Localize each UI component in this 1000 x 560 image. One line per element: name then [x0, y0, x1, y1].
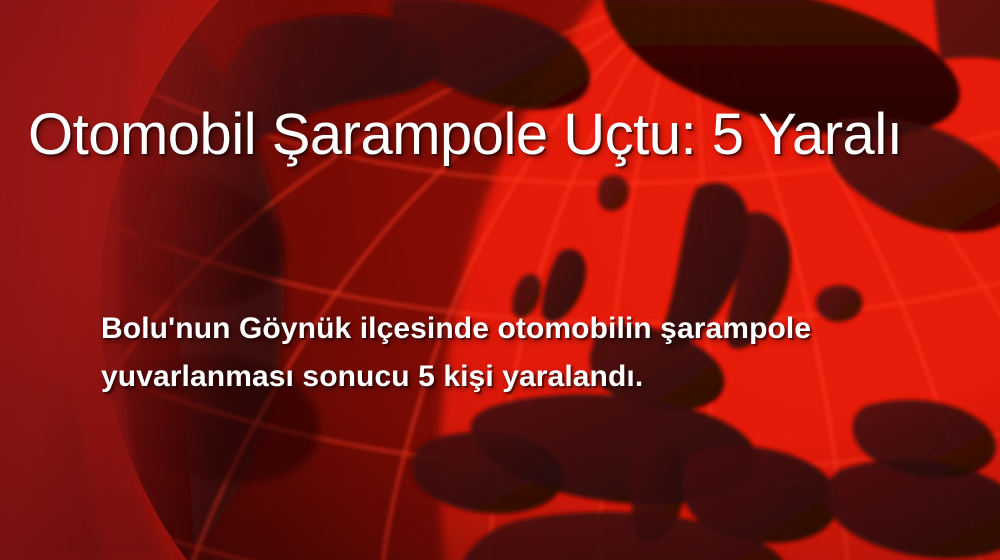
- background-vignette: [0, 0, 1000, 560]
- news-card: Otomobil Şarampole Uçtu: 5 Yaralı Bolu'n…: [0, 0, 1000, 560]
- article-summary: Bolu'nun Göynük ilçesinde otomobilin şar…: [101, 305, 861, 401]
- article-headline: Otomobil Şarampole Uçtu: 5 Yaralı: [28, 104, 958, 166]
